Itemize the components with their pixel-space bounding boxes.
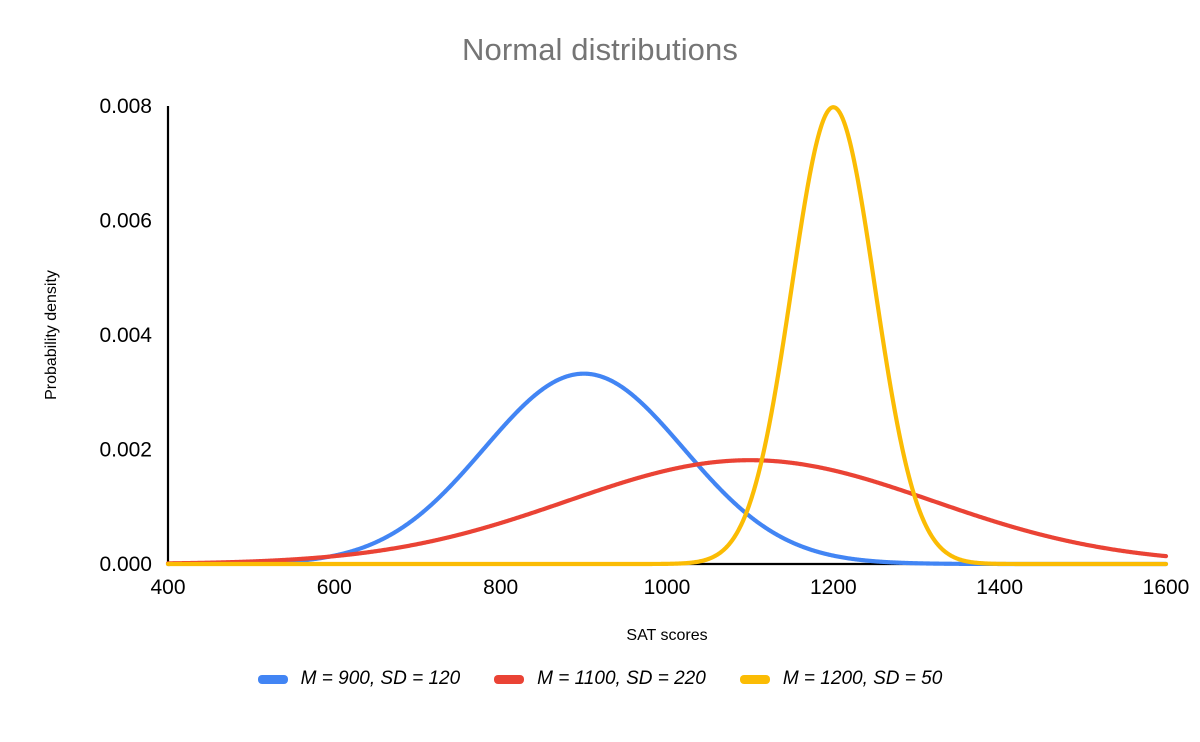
legend-swatch-icon	[740, 675, 770, 684]
x-axis-tick-label: 1400	[976, 576, 1023, 599]
legend-item-2[interactable]: M = 1100, SD = 220	[494, 668, 706, 690]
x-axis-tick-label: 600	[317, 576, 352, 599]
x-axis-tick-label: 1600	[1143, 576, 1190, 599]
legend-item-3[interactable]: M = 1200, SD = 50	[740, 668, 943, 690]
x-axis-title: SAT scores	[626, 627, 707, 644]
y-axis-tick-label: 0.004	[99, 324, 152, 347]
series-curve-2	[168, 460, 1166, 563]
normal-distributions-chart: Normal distributions 0.0000.0020.0040.00…	[0, 0, 1200, 742]
y-axis-tick-label: 0.000	[99, 553, 152, 576]
x-axis-tick-label: 800	[483, 576, 518, 599]
x-axis-tick-label: 1000	[644, 576, 691, 599]
legend-label: M = 1200, SD = 50	[783, 668, 943, 690]
plot-area: 0.0000.0020.0040.0060.008400600800100012…	[0, 0, 1200, 742]
y-axis-tick-label: 0.002	[99, 439, 152, 462]
x-axis-tick-label: 1200	[810, 576, 857, 599]
y-axis-tick-label: 0.008	[99, 95, 152, 118]
chart-legend: M = 900, SD = 120M = 1100, SD = 220M = 1…	[0, 668, 1200, 690]
legend-label: M = 900, SD = 120	[301, 668, 461, 690]
legend-swatch-icon	[494, 675, 524, 684]
y-axis-tick-label: 0.006	[99, 210, 152, 233]
legend-item-1[interactable]: M = 900, SD = 120	[258, 668, 461, 690]
legend-label: M = 1100, SD = 220	[537, 668, 706, 690]
x-axis-tick-label: 400	[150, 576, 185, 599]
legend-swatch-icon	[258, 675, 288, 684]
y-axis-title: Probability density	[43, 270, 60, 400]
series-curve-3	[168, 107, 1166, 564]
